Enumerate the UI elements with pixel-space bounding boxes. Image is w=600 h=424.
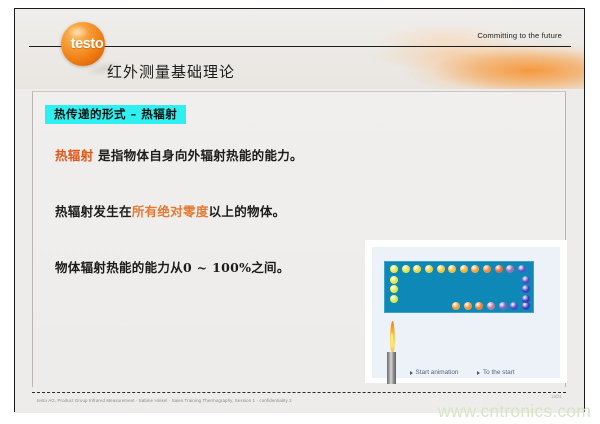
- temperature-dot: [499, 302, 507, 310]
- temperature-dot: [402, 265, 410, 273]
- temperature-dot: [425, 265, 433, 273]
- temperature-dot: [510, 302, 518, 310]
- paragraph-2-text: 以上的物体。: [209, 204, 286, 219]
- temperature-dot: [413, 265, 421, 273]
- paragraph-2-highlight: 所有绝对零度: [132, 204, 209, 219]
- burner-icon: [387, 352, 396, 384]
- footer-credit: testo AG, Product Group Infrared Measure…: [37, 398, 292, 403]
- temperature-dot: [471, 265, 479, 273]
- testo-logo: testo: [61, 22, 107, 68]
- temperature-dot: [522, 285, 530, 293]
- slide-canvas: Committing to the future testo 红外测量基础理论 …: [14, 8, 585, 412]
- temperature-dot: [452, 302, 460, 310]
- paragraph-3: 物体辐射热能的能力从0 ~ 100%之间。: [55, 257, 290, 276]
- temperature-dot: [390, 265, 398, 273]
- footer-page-number: 12/21: [551, 394, 562, 399]
- temperature-dot: [522, 302, 530, 310]
- content-frame: 热传递的形式 – 热辐射 热辐射 是指物体自身向外辐射热能的能力。 热辐射发生在…: [32, 91, 566, 387]
- temperature-dot: [390, 276, 398, 284]
- animation-controls: Start animation To the start: [410, 369, 515, 376]
- temperature-dot: [518, 265, 526, 273]
- slide-viewer: Committing to the future testo 红外测量基础理论 …: [0, 0, 600, 424]
- paragraph-1: 热辐射 是指物体自身向外辐射热能的能力。: [55, 145, 303, 164]
- logo-wordmark: testo: [59, 36, 115, 52]
- flame-core-icon: [391, 333, 393, 347]
- animation-panel[interactable]: Start animation To the start: [365, 240, 567, 383]
- animation-stage: Start animation To the start: [372, 247, 560, 378]
- play-triangle-icon: [410, 371, 413, 375]
- page-title: 红外测量基础理论: [107, 61, 235, 82]
- paragraph-1-text: 是指物体自身向外辐射热能的能力。: [93, 148, 302, 163]
- temperature-dot: [506, 265, 514, 273]
- temperature-dot: [522, 295, 530, 303]
- start-animation-button[interactable]: Start animation: [410, 369, 458, 376]
- temperature-dot: [460, 265, 468, 273]
- temperature-dot: [487, 302, 495, 310]
- temperature-dot: [483, 265, 491, 273]
- temperature-dot: [495, 265, 503, 273]
- temperature-dot: [437, 265, 445, 273]
- paragraph-3-text: 物体辐射热能的能力从0 ~ 100%之间。: [55, 260, 290, 275]
- slide-header: Committing to the future testo 红外测量基础理论: [15, 9, 584, 89]
- paragraph-2: 热辐射发生在所有绝对零度以上的物体。: [55, 201, 285, 220]
- paragraph-1-highlight: 热辐射: [55, 148, 93, 163]
- temperature-dot: [464, 302, 472, 310]
- to-the-start-label: To the start: [483, 369, 515, 376]
- slide-body: 热传递的形式 – 热辐射 热辐射 是指物体自身向外辐射热能的能力。 热辐射发生在…: [15, 89, 584, 413]
- brand-claim: Committing to the future: [477, 31, 562, 40]
- footer-divider: [32, 392, 566, 393]
- temperature-dot: [390, 295, 398, 303]
- to-the-start-button[interactable]: To the start: [477, 369, 514, 376]
- site-watermark: www.cntronics.com: [438, 401, 591, 422]
- temperature-dot: [448, 265, 456, 273]
- temperature-dot: [475, 302, 483, 310]
- heated-plate-graphic: [384, 261, 534, 313]
- temperature-dot: [522, 276, 530, 284]
- play-triangle-icon: [477, 371, 480, 375]
- start-animation-label: Start animation: [416, 369, 459, 376]
- paragraph-2-lead: 热辐射发生在: [55, 204, 132, 219]
- topic-heading: 热传递的形式 – 热辐射: [45, 105, 186, 124]
- temperature-dot: [390, 285, 398, 293]
